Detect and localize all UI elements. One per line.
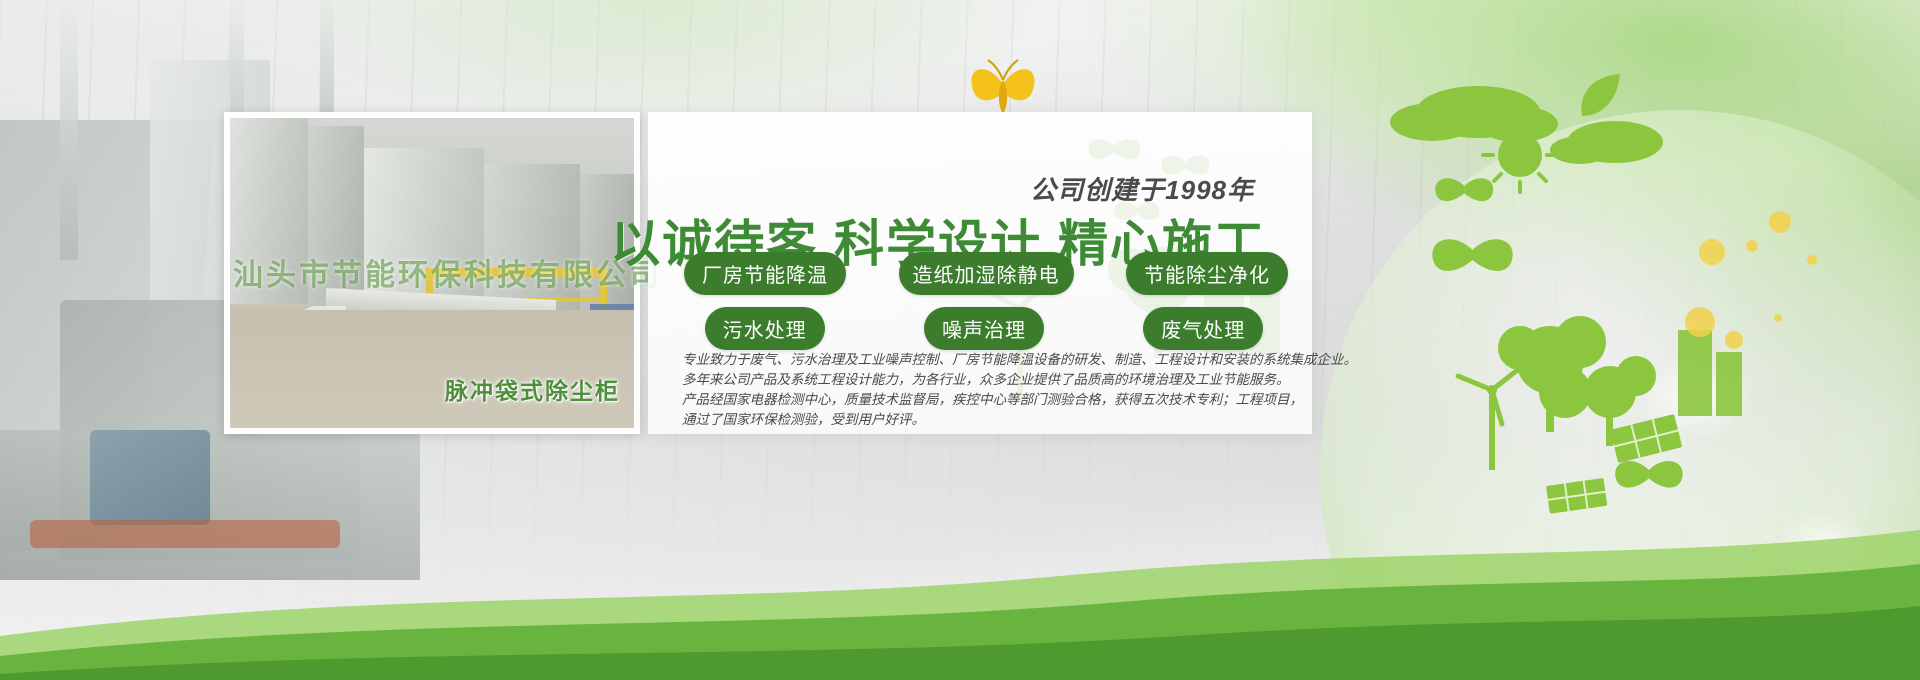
solar-panel-icon [1610, 414, 1682, 463]
service-pill-noise-control[interactable]: 噪声治理 [924, 307, 1044, 350]
butterfly-icon [1432, 239, 1512, 271]
photo-wall-shape [484, 164, 580, 314]
background-duct-shape [60, 0, 78, 260]
company-description: 专业致力于废气、污水治理及工业噪声控制、厂房节能降温设备的研发、制造、工程设计和… [682, 350, 1296, 430]
service-pill-row: 污水处理 噪声治理 废气处理 [684, 307, 1284, 350]
service-pill-cell: 节能除尘净化 [1126, 252, 1288, 295]
photo-caption: 脉冲袋式除尘柜 [445, 372, 620, 406]
photo-yellow-rail [426, 268, 606, 277]
service-pill-row: 厂房节能降温 造纸加湿除静电 节能除尘净化 [684, 252, 1284, 295]
cloud-icon [1390, 86, 1558, 142]
butterfly-icon [1089, 139, 1140, 159]
photo-ground [230, 310, 634, 428]
service-pill-cell: 造纸加湿除静电 [904, 252, 1068, 295]
description-line: 通过了国家环保检测验，受到用户好评。 [682, 410, 1296, 430]
butterfly-icon [1435, 178, 1493, 201]
service-pill-exhaust-treatment[interactable]: 废气处理 [1143, 307, 1263, 350]
photo-wall-shape [308, 126, 364, 306]
service-pill-factory-cooling[interactable]: 厂房节能降温 [684, 252, 846, 295]
service-pill-cell: 噪声治理 [903, 307, 1064, 350]
service-pill-cell: 污水处理 [684, 307, 845, 350]
bottom-green-wave [0, 490, 1920, 680]
established-text: 公司创建于1998年 [1030, 170, 1254, 207]
cloud-icon [1550, 121, 1663, 164]
service-pill-paper-humidify[interactable]: 造纸加湿除静电 [899, 252, 1074, 295]
promo-banner: 脉冲袋式除尘柜 汕头市节能环保科技有限公司 [0, 0, 1920, 680]
service-pill-group: 厂房节能降温 造纸加湿除静电 节能除尘净化 污水处理 噪声治理 废气处理 [684, 252, 1284, 362]
eco-illustration [1360, 0, 1920, 560]
sun-icon [1483, 118, 1557, 192]
photo-wall-shape [364, 148, 484, 314]
service-pill-dust-purification[interactable]: 节能除尘净化 [1126, 252, 1288, 295]
description-line: 产品经国家电器检测中心，质量技术监督局，疾控中心等部门测验合格，获得五次技术专利… [682, 390, 1296, 410]
photo-wall-shape [230, 118, 308, 304]
bubble-decoration [1685, 211, 1817, 349]
service-pill-sewage-treatment[interactable]: 污水处理 [705, 307, 825, 350]
windmill-icon [1458, 368, 1520, 470]
dust-collector-photo: 脉冲袋式除尘柜 [230, 118, 634, 428]
service-pill-cell: 废气处理 [1123, 307, 1284, 350]
photo-card: 脉冲袋式除尘柜 [224, 112, 640, 434]
service-pill-cell: 厂房节能降温 [684, 252, 846, 295]
content-panel: 公司创建于1998年 以诚待客 科学设计 精心施工 厂房节能降温 造纸加湿除静电… [648, 112, 1312, 434]
butterfly-icon [1615, 461, 1682, 488]
description-line: 专业致力于废气、污水治理及工业噪声控制、厂房节能降温设备的研发、制造、工程设计和… [682, 350, 1296, 370]
description-line: 多年来公司产品及系统工程设计能力，为各行业，众多企业提供了品质高的环境治理及工业… [682, 370, 1296, 390]
